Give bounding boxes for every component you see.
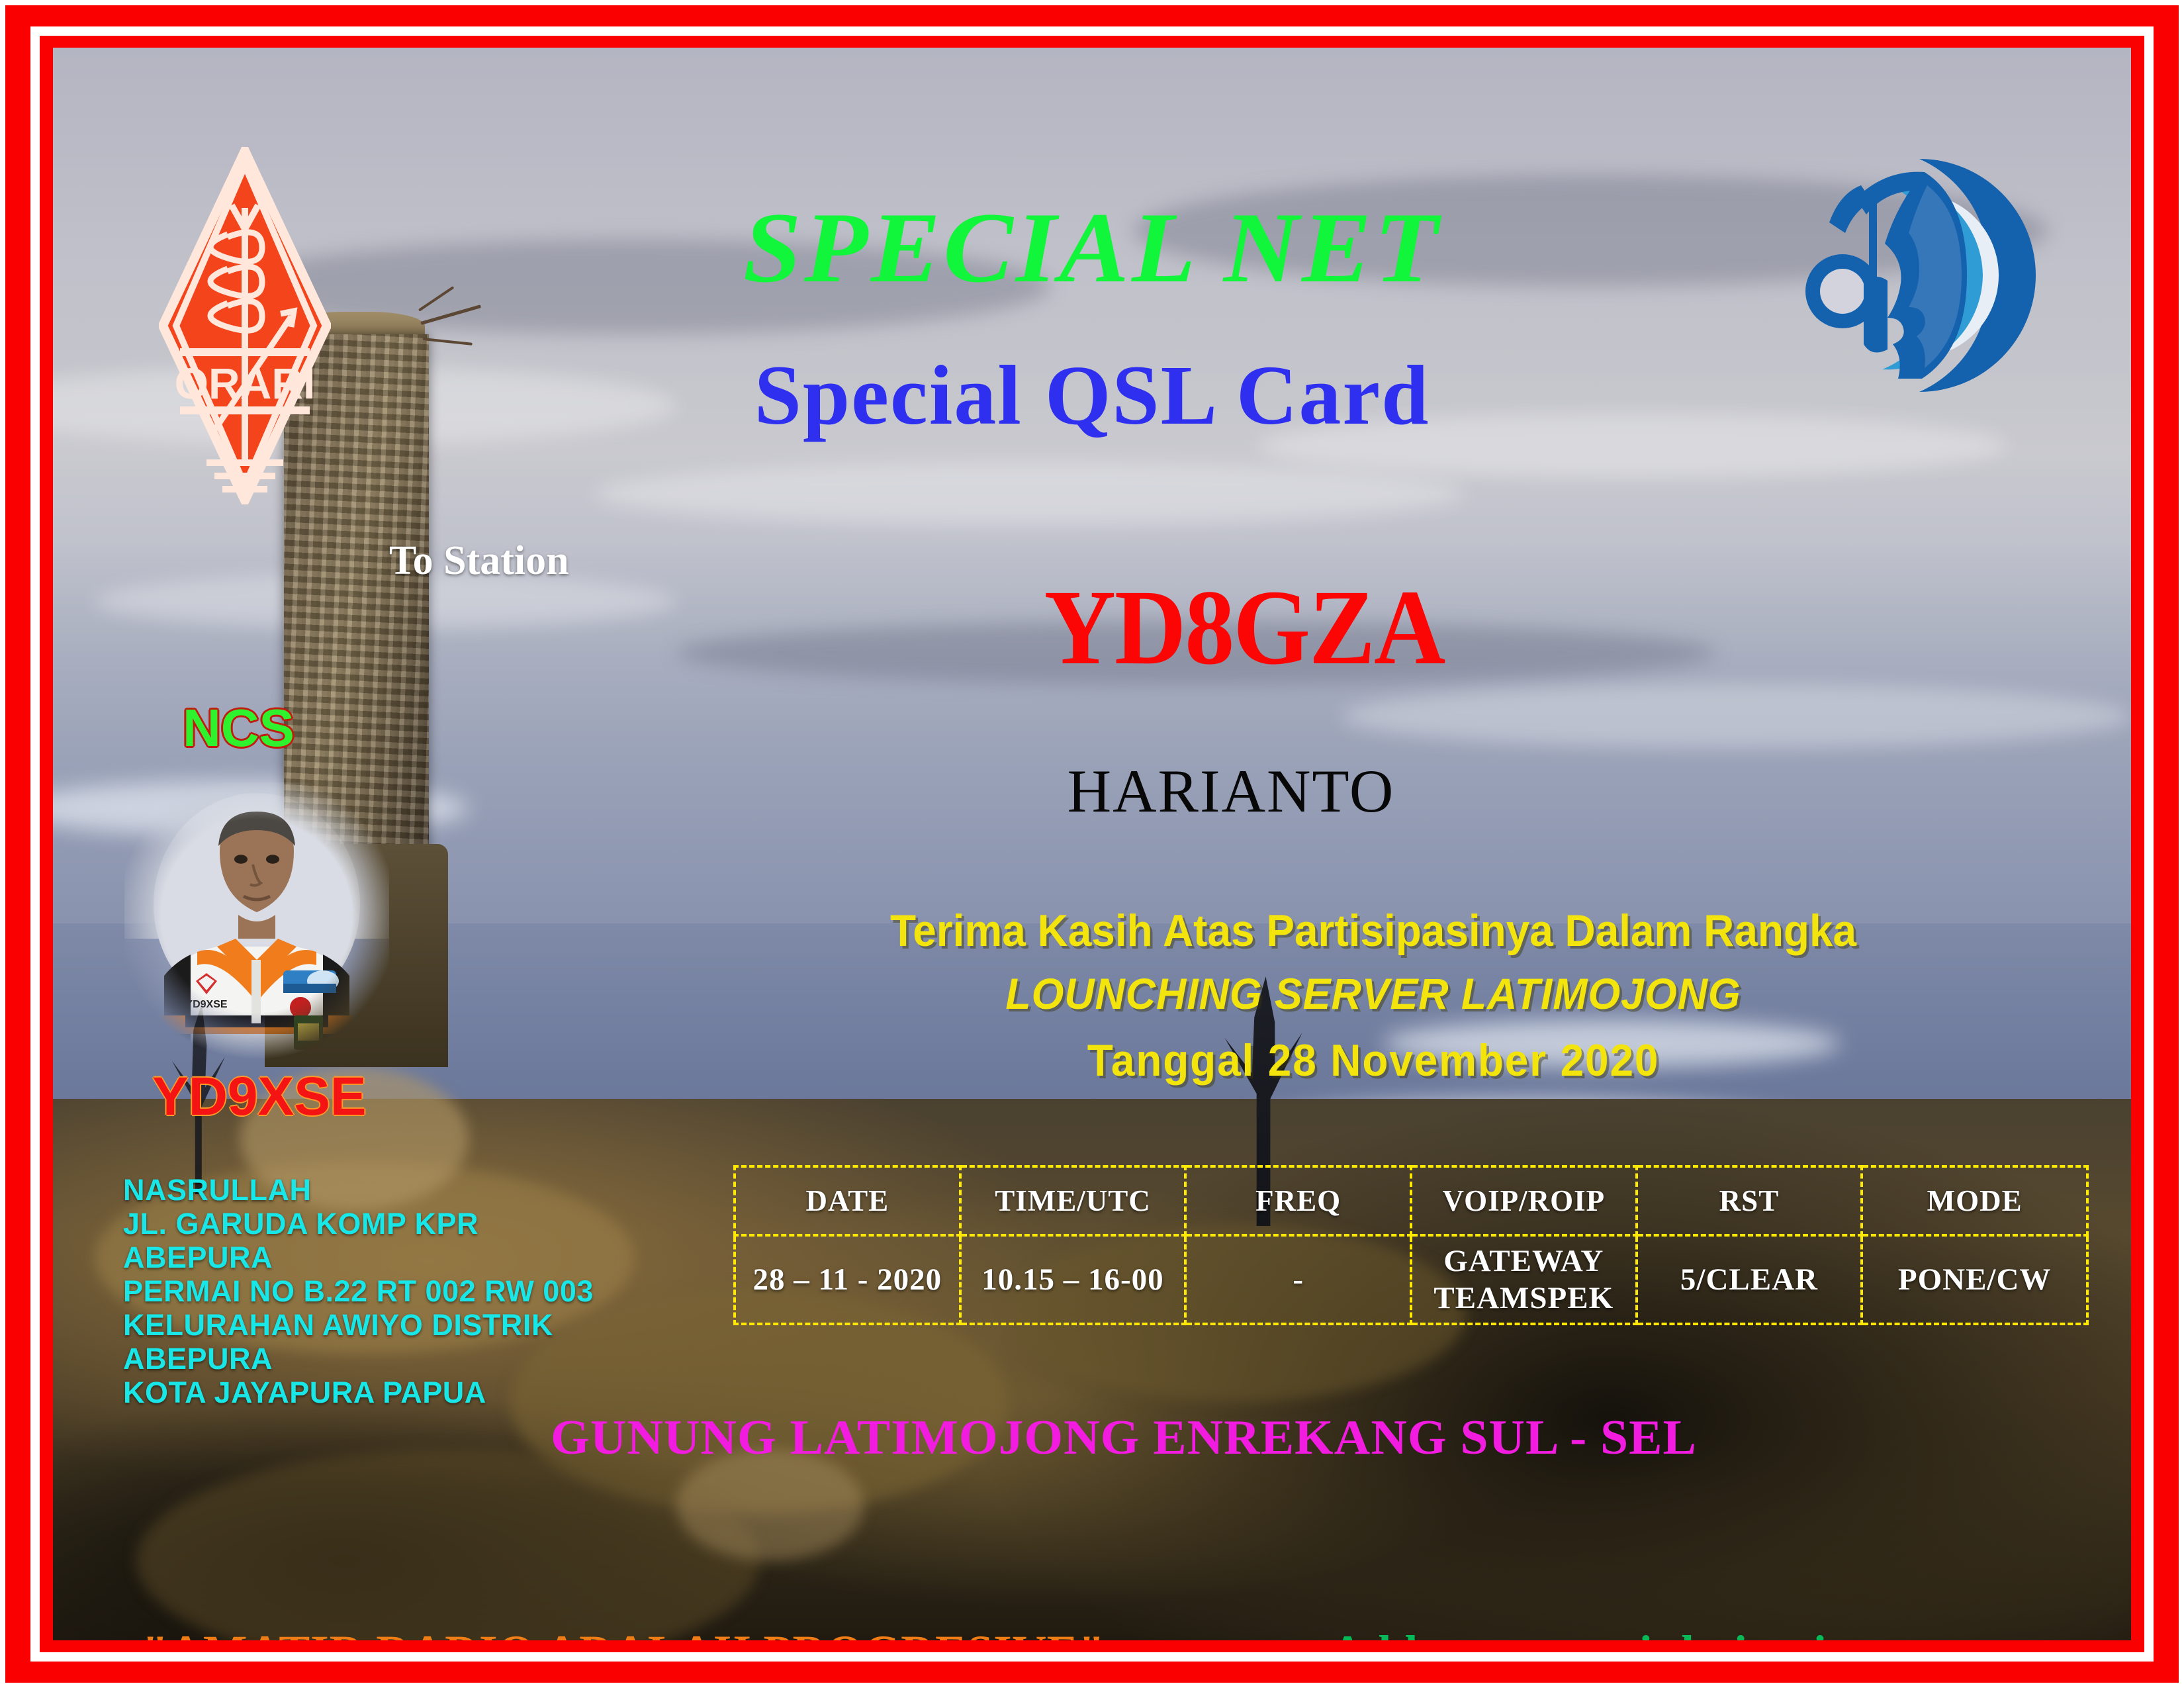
thanks-line-2: LOUNCHING SERVER LATIMOJONG bbox=[710, 968, 2037, 1019]
location-name: GUNUNG LATIMOJONG ENREKANG SUL - SEL bbox=[97, 1410, 2131, 1466]
page-title: SPECIAL NET bbox=[53, 190, 2131, 305]
cell-time: 10.15 – 16-00 bbox=[960, 1235, 1186, 1324]
qso-log-table: DATE TIME/UTC FREQ VOIP/ROIP RST MODE 28… bbox=[733, 1165, 2089, 1325]
ncs-address-block: NASRULLAH JL. GARUDA KOMP KPR ABEPURA PE… bbox=[123, 1173, 719, 1409]
ncs-callsign: YD9XSE bbox=[152, 1066, 367, 1128]
column-header-mode: MODE bbox=[1862, 1166, 2087, 1235]
column-header-voip: VOIP/ROIP bbox=[1411, 1166, 1637, 1235]
footer-motto: "AMATIR RADIO ADALAH PROGRESIVE" bbox=[142, 1625, 1105, 1640]
cell-freq: - bbox=[1185, 1235, 1411, 1324]
cloud-streak bbox=[593, 462, 1466, 526]
address-line: JL. GARUDA KOMP KPR bbox=[123, 1207, 719, 1241]
column-header-time: TIME/UTC bbox=[960, 1166, 1186, 1235]
address-line: ABEPURA bbox=[123, 1241, 719, 1274]
ncs-label: NCS bbox=[183, 698, 295, 759]
page-subtitle: Special QSL Card bbox=[53, 347, 2131, 444]
table-header-row: DATE TIME/UTC FREQ VOIP/ROIP RST MODE bbox=[735, 1166, 2087, 1235]
address-line: NASRULLAH bbox=[123, 1173, 719, 1207]
operator-name: HARIANTO bbox=[331, 756, 2131, 826]
background-photo: ORARI bbox=[53, 48, 2131, 1640]
column-header-freq: FREQ bbox=[1185, 1166, 1411, 1235]
address-line: KOTA JAYAPURA PAPUA bbox=[123, 1376, 719, 1409]
address-line: PERMAI NO B.22 RT 002 RW 003 bbox=[123, 1274, 719, 1308]
column-header-date: DATE bbox=[735, 1166, 960, 1235]
thanks-line-3: Tanggal 28 November 2020 bbox=[717, 1035, 2029, 1086]
address-line: ABEPURA bbox=[123, 1342, 719, 1376]
thanks-block: Terima Kasih Atas Partisipasinya Dalam R… bbox=[675, 905, 2071, 1086]
footer-web-address: Address : amatir.latimojong.com bbox=[1330, 1625, 1997, 1640]
cell-mode: PONE/CW bbox=[1862, 1235, 2087, 1324]
station-callsign: YD8GZA bbox=[357, 566, 2131, 689]
address-line: KELURAHAN AWIYO DISTRIK bbox=[123, 1308, 719, 1342]
cell-rst: 5/CLEAR bbox=[1637, 1235, 1862, 1324]
thanks-line-1: Terima Kasih Atas Partisipasinya Dalam R… bbox=[717, 905, 2029, 957]
qsl-card: ORARI bbox=[0, 0, 2184, 1688]
cloud-streak bbox=[1342, 684, 2131, 748]
photo-badge-callsign: YD9XSE bbox=[185, 999, 227, 1010]
table-row: 28 – 11 - 2020 10.15 – 16-00 - GATEWAYTE… bbox=[735, 1235, 2087, 1324]
cell-voip: GATEWAYTEAMSPEK bbox=[1411, 1235, 1637, 1324]
column-header-rst: RST bbox=[1637, 1166, 1862, 1235]
cell-date: 28 – 11 - 2020 bbox=[735, 1235, 960, 1324]
